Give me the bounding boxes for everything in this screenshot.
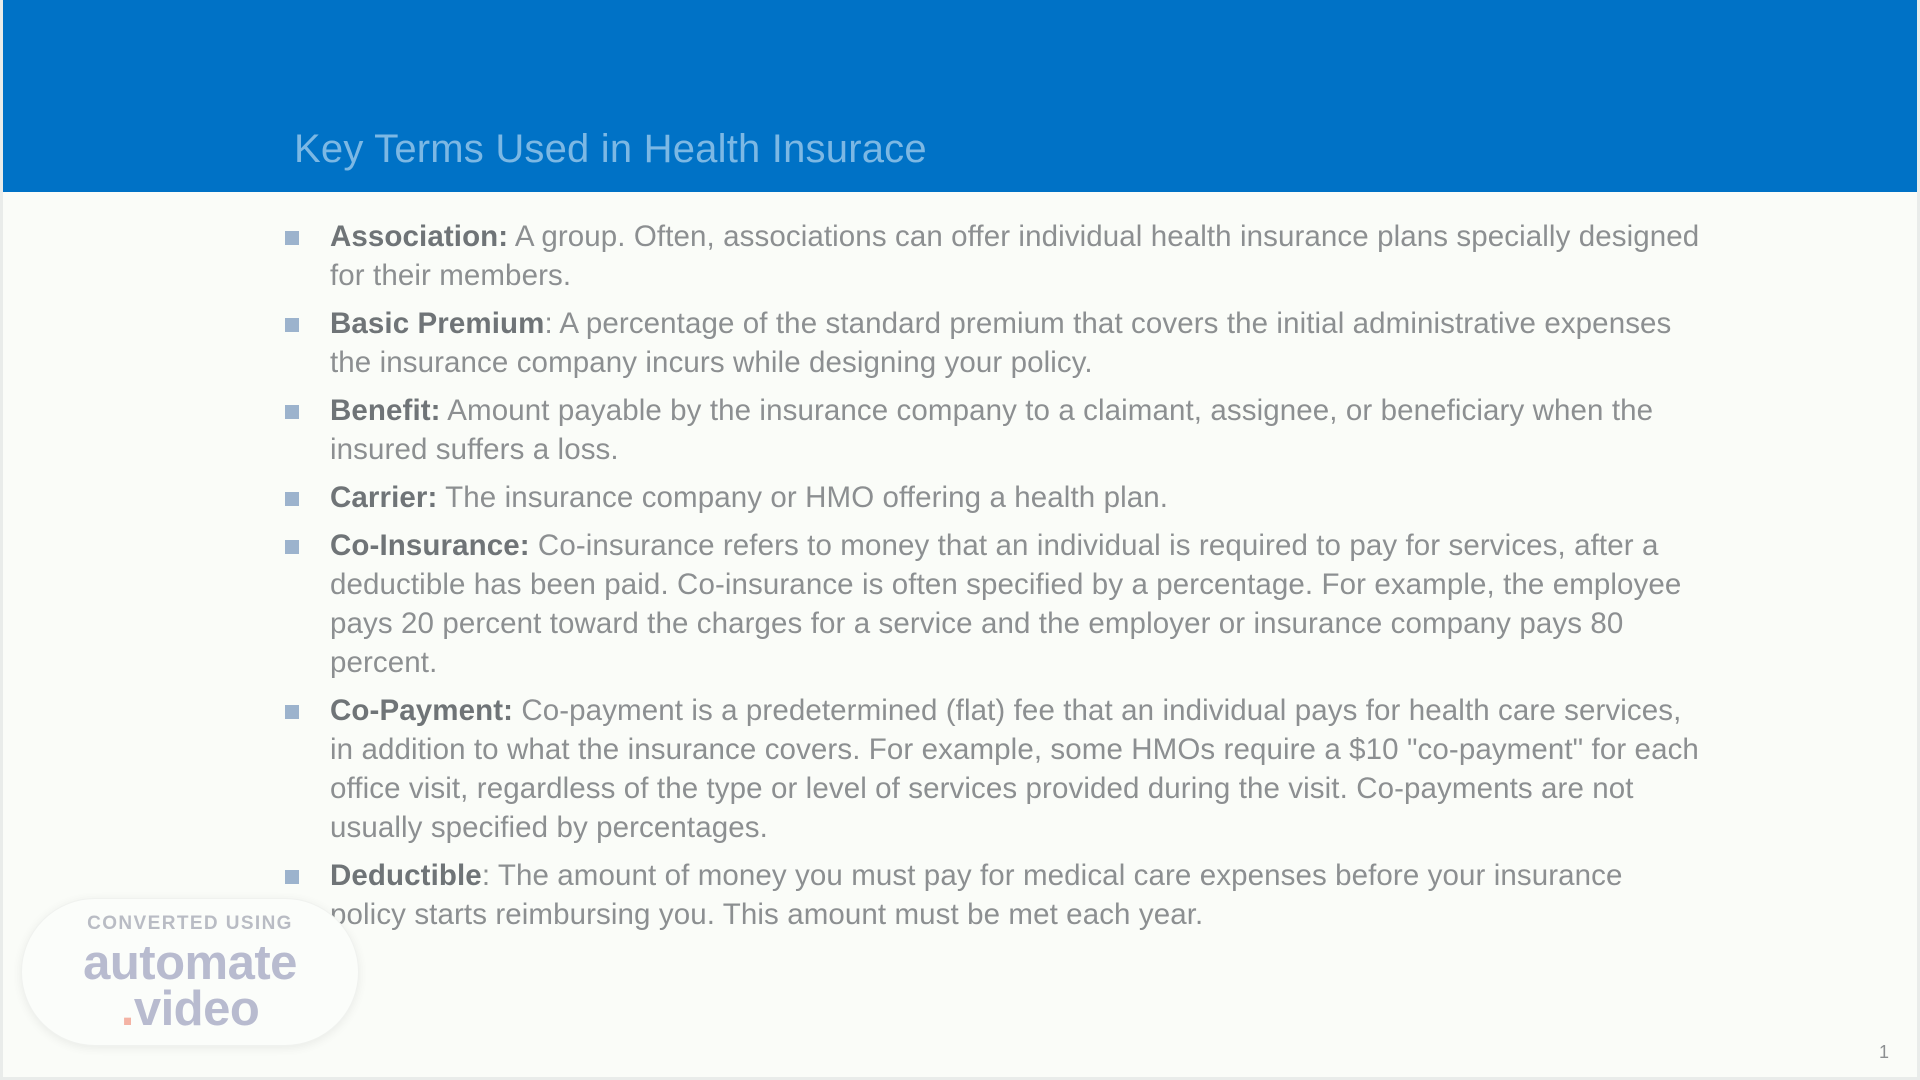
term-label: Carrier: xyxy=(330,481,437,514)
key-terms-list: Association: A group. Often, association… xyxy=(285,217,1705,943)
list-item-text: Basic Premium: A percentage of the stand… xyxy=(330,304,1705,382)
watermark-caption: CONVERTED USING xyxy=(22,913,358,935)
term-label: Benefit: xyxy=(330,394,441,427)
list-item-text: Association: A group. Often, association… xyxy=(330,217,1705,295)
list-item: Co-Payment: Co-payment is a predetermine… xyxy=(285,691,1705,847)
term-label: Co-Payment: xyxy=(330,694,513,727)
term-definition: Co-insurance refers to money that an ind… xyxy=(330,529,1681,679)
term-definition: A group. Often, associations can offer i… xyxy=(330,220,1699,292)
list-item: Basic Premium: A percentage of the stand… xyxy=(285,304,1705,382)
list-item-text: Co-Payment: Co-payment is a predetermine… xyxy=(330,691,1705,847)
list-item: Carrier: The insurance company or HMO of… xyxy=(285,478,1705,517)
list-item-text: Co-Insurance: Co-insurance refers to mon… xyxy=(330,526,1705,682)
watermark-badge: CONVERTED USING automate .video xyxy=(21,898,359,1046)
list-item-text: Deductible: The amount of money you must… xyxy=(330,856,1705,934)
watermark-brand-secondary: .video xyxy=(22,983,358,1035)
list-item: Benefit: Amount payable by the insurance… xyxy=(285,391,1705,469)
list-item-text: Carrier: The insurance company or HMO of… xyxy=(330,478,1705,517)
page-title: Key Terms Used in Health Insurace xyxy=(294,125,927,173)
square-bullet-icon xyxy=(285,492,299,506)
term-label: Basic Premium xyxy=(330,307,544,340)
list-item: Co-Insurance: Co-insurance refers to mon… xyxy=(285,526,1705,682)
title-band: Key Terms Used in Health Insurace xyxy=(3,0,1920,192)
term-label: Deductible xyxy=(330,859,482,892)
square-bullet-icon xyxy=(285,318,299,332)
term-label: Association: xyxy=(330,220,508,253)
square-bullet-icon xyxy=(285,705,299,719)
list-item: Association: A group. Often, association… xyxy=(285,217,1705,295)
watermark-dot: . xyxy=(121,982,134,1036)
slide-canvas: Key Terms Used in Health Insurace Associ… xyxy=(0,0,1920,1080)
square-bullet-icon xyxy=(285,405,299,419)
watermark-brand-suffix: video xyxy=(134,982,259,1036)
list-item: Deductible: The amount of money you must… xyxy=(285,856,1705,934)
term-definition: Amount payable by the insurance company … xyxy=(330,394,1653,466)
list-item-text: Benefit: Amount payable by the insurance… xyxy=(330,391,1705,469)
term-definition: The insurance company or HMO offering a … xyxy=(437,481,1168,514)
term-label: Co-Insurance: xyxy=(330,529,530,562)
term-definition: : The amount of money you must pay for m… xyxy=(330,859,1623,931)
square-bullet-icon xyxy=(285,231,299,245)
square-bullet-icon xyxy=(285,870,299,884)
page-number: 1 xyxy=(1879,1042,1889,1063)
term-definition: Co-payment is a predetermined (flat) fee… xyxy=(330,694,1699,844)
square-bullet-icon xyxy=(285,540,299,554)
